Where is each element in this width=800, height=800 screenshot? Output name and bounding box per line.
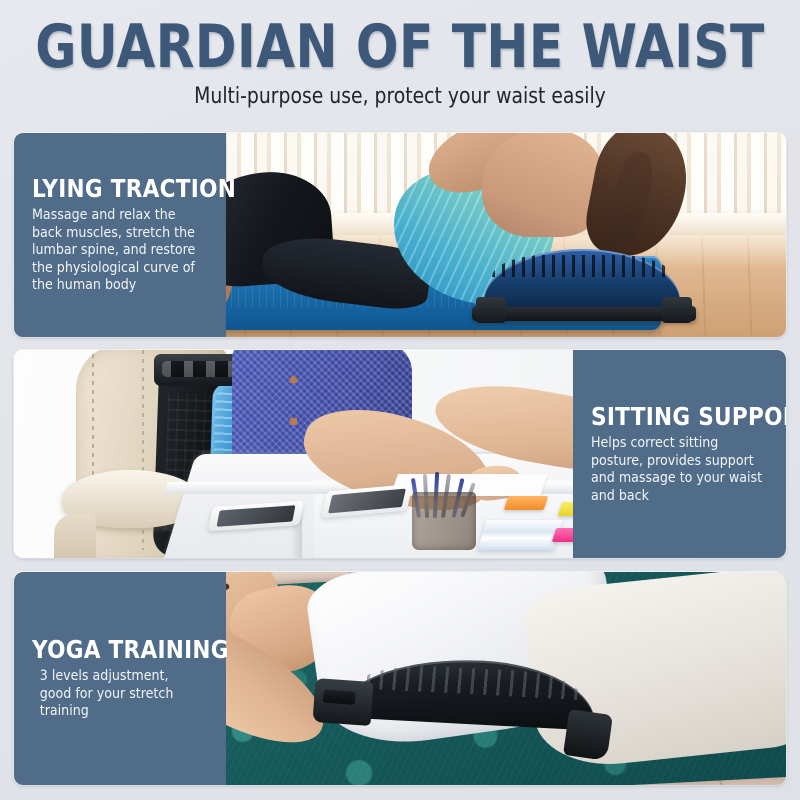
- caption-overlay-sitting-support: SITTING SUPPORT Helps correct sitting po…: [573, 350, 786, 558]
- pen-holder: [412, 492, 476, 550]
- chair-armrest-post: [54, 514, 96, 558]
- caption-heading: SITTING SUPPORT: [591, 403, 761, 430]
- caption-body: 3 levels adjustment, good for your stret…: [32, 668, 203, 721]
- feature-card-lying-traction[interactable]: LYING TRACTION Massage and relax the bac…: [14, 133, 786, 337]
- page-title: GUARDIAN OF THE WAIST: [28, 18, 772, 76]
- stretcher-foot-right: [662, 297, 692, 323]
- caption-heading: LYING TRACTION: [32, 175, 201, 202]
- feature-card-yoga-training[interactable]: YOGA TRAINING 3 levels adjustment, good …: [14, 572, 786, 785]
- page-subtitle: Multi-purpose use, protect your waist ea…: [20, 84, 780, 110]
- stretcher-tail-end: [563, 709, 613, 761]
- sticky-note-orange: [504, 496, 549, 510]
- caption-body: Massage and relax the back muscles, stre…: [32, 207, 203, 295]
- caption-overlay-yoga-training: YOGA TRAINING 3 levels adjustment, good …: [14, 572, 226, 785]
- caption-heading: YOGA TRAINING: [32, 636, 201, 663]
- light-pants: [521, 572, 786, 772]
- feature-card-sitting-support[interactable]: SITTING SUPPORT Helps correct sitting po…: [14, 350, 786, 558]
- caption-overlay-lying-traction: LYING TRACTION Massage and relax the bac…: [14, 133, 226, 337]
- note-paper-stack: [477, 520, 562, 550]
- infographic-page: GUARDIAN OF THE WAIST Multi-purpose use,…: [0, 0, 800, 800]
- caption-body: Helps correct sitting posture, provides …: [591, 435, 763, 505]
- header: GUARDIAN OF THE WAIST Multi-purpose use,…: [0, 0, 800, 126]
- stretcher-head-end: [313, 678, 374, 726]
- stretcher-foot-left: [476, 297, 506, 323]
